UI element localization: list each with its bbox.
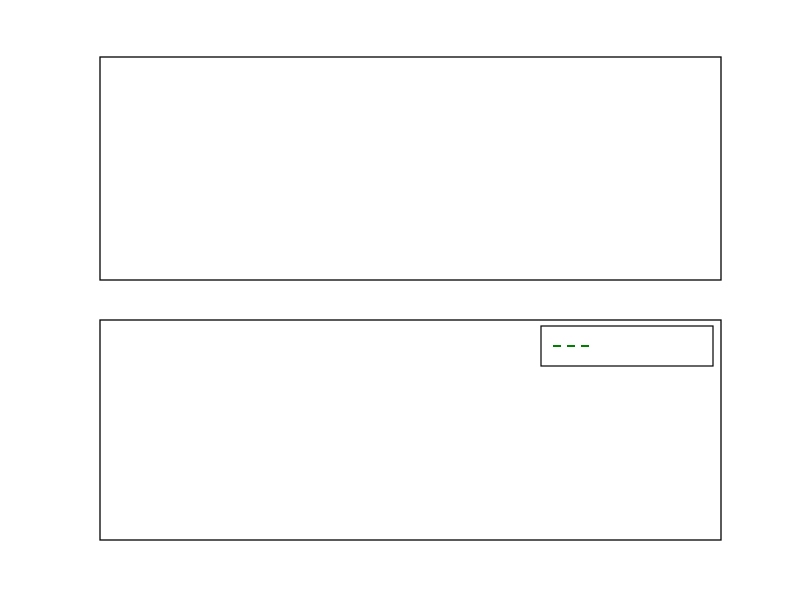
matplotlib-figure (0, 0, 800, 600)
figure-background (0, 0, 800, 600)
legend[interactable] (541, 326, 713, 366)
legend-box (541, 326, 713, 366)
plot-canvas (0, 0, 800, 600)
